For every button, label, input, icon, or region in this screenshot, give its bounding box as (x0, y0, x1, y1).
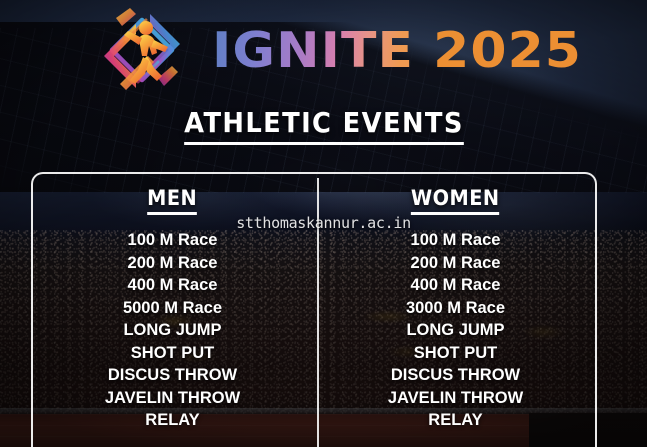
page-title: ATHLETIC EVENTS (184, 106, 464, 145)
list-item: SHOT PUT (314, 342, 597, 365)
list-item: DISCUS THROW (31, 364, 314, 387)
column-heading-women: WOMEN (411, 186, 500, 215)
poster-header: IGNITE 2025 (0, 0, 647, 100)
list-item: 3000 M Race (314, 297, 597, 320)
list-item: JAVELIN THROW (314, 387, 597, 410)
list-item: 400 M Race (31, 274, 314, 297)
wordmark-name: IGNITE (212, 22, 414, 79)
list-item: LONG JUMP (31, 319, 314, 342)
list-item: LONG JUMP (314, 319, 597, 342)
women-events-list: 100 M Race 200 M Race 400 M Race 3000 M … (314, 229, 597, 432)
athletic-events-poster: IGNITE 2025 ATHLETIC EVENTS MEN 100 M Ra… (0, 0, 647, 447)
list-item: 100 M Race (314, 229, 597, 252)
list-item: RELAY (31, 409, 314, 432)
running-athlete-logo-icon (86, 4, 198, 96)
list-item: 400 M Race (314, 274, 597, 297)
list-item: SHOT PUT (31, 342, 314, 365)
section-title-container: ATHLETIC EVENTS (0, 106, 647, 145)
event-wordmark: IGNITE 2025 (212, 26, 582, 75)
column-heading-men: MEN (148, 186, 198, 215)
site-watermark: stthomaskannur.ac.in (0, 214, 647, 232)
men-events-list: 100 M Race 200 M Race 400 M Race 5000 M … (31, 229, 314, 432)
list-item: JAVELIN THROW (31, 387, 314, 410)
list-item: 100 M Race (31, 229, 314, 252)
list-item: 200 M Race (314, 252, 597, 275)
list-item: DISCUS THROW (314, 364, 597, 387)
list-item: RELAY (314, 409, 597, 432)
list-item: 5000 M Race (31, 297, 314, 320)
wordmark-year: 2025 (433, 22, 582, 79)
list-item: 200 M Race (31, 252, 314, 275)
